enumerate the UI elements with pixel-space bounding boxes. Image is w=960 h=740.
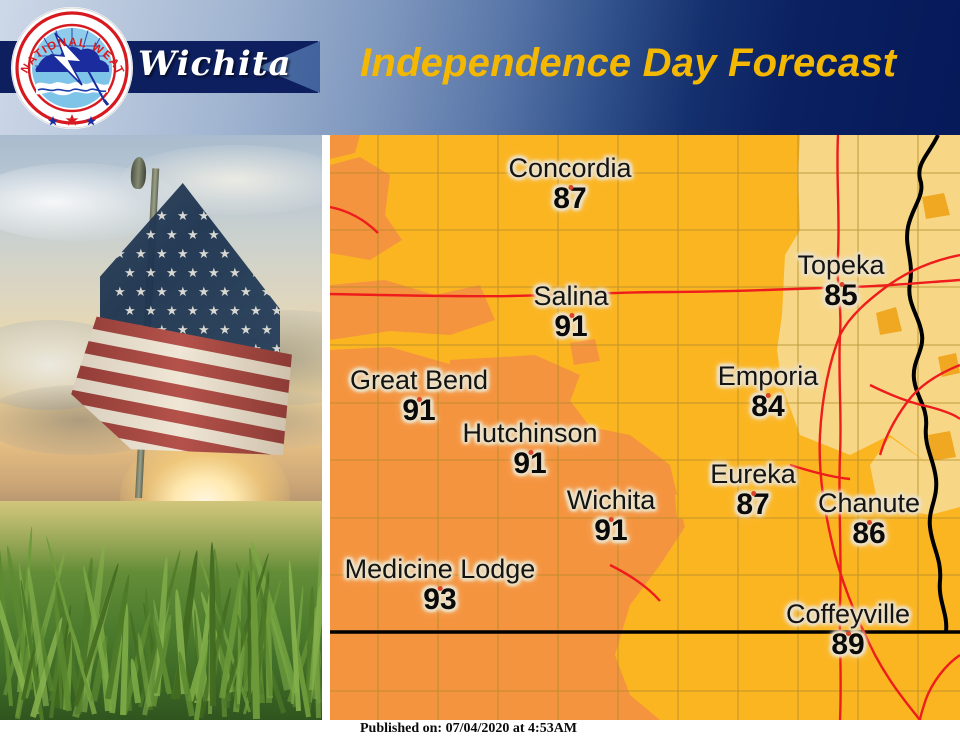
city-label: Chanute86 bbox=[818, 490, 920, 549]
flag-star: ★ bbox=[208, 304, 220, 317]
flag-star: ★ bbox=[261, 323, 273, 336]
city-name: Hutchinson bbox=[462, 420, 597, 448]
city-label: Emporia84 bbox=[718, 363, 819, 422]
city-marker-dot bbox=[839, 282, 844, 287]
flag-star: ★ bbox=[135, 247, 147, 260]
flag-star: ★ bbox=[187, 228, 199, 241]
city-name: Coffeyville bbox=[786, 601, 910, 629]
page-header: NATIONAL WEATHER SERVICE Wichita Indepen… bbox=[0, 0, 960, 135]
flag-star: ★ bbox=[240, 323, 252, 336]
flag-star: ★ bbox=[219, 247, 231, 260]
city-name: Great Bend bbox=[350, 367, 488, 395]
city-label: Medicine Lodge93 bbox=[345, 556, 536, 615]
city-marker-dot bbox=[568, 185, 573, 190]
grass-blade bbox=[266, 592, 272, 703]
flag-star: ★ bbox=[124, 304, 136, 317]
city-name: Topeka bbox=[797, 252, 884, 280]
city-name: Eureka bbox=[710, 461, 796, 489]
flag-star: ★ bbox=[198, 247, 210, 260]
city-name: Salina bbox=[533, 283, 608, 311]
city-marker-dot bbox=[751, 491, 756, 496]
flag-star: ★ bbox=[219, 285, 231, 298]
city-label: Topeka85 bbox=[797, 252, 884, 311]
flag-star: ★ bbox=[156, 247, 168, 260]
flag-star: ★ bbox=[187, 266, 199, 279]
city-label: Hutchinson91 bbox=[462, 420, 597, 479]
flag-star: ★ bbox=[229, 266, 241, 279]
flag-star: ★ bbox=[135, 285, 147, 298]
city-label: Wichita91 bbox=[567, 487, 656, 546]
flag-star: ★ bbox=[208, 228, 220, 241]
office-name: Wichita bbox=[138, 44, 292, 84]
city-name: Chanute bbox=[818, 490, 920, 518]
flag-star: ★ bbox=[229, 304, 241, 317]
published-timestamp: Published on: 07/04/2020 at 4:53AM bbox=[360, 721, 577, 737]
flag-star: ★ bbox=[156, 285, 168, 298]
flag-star: ★ bbox=[145, 228, 157, 241]
city-marker-dot bbox=[528, 450, 533, 455]
city-name: Wichita bbox=[567, 487, 656, 515]
flag-star: ★ bbox=[166, 266, 178, 279]
city-label: Concordia87 bbox=[508, 155, 631, 214]
city-marker-dot bbox=[846, 631, 851, 636]
city-name: Medicine Lodge bbox=[345, 556, 536, 584]
flag-star: ★ bbox=[208, 266, 220, 279]
nws-logo-icon: NATIONAL WEATHER SERVICE bbox=[8, 4, 136, 132]
flag-star: ★ bbox=[166, 304, 178, 317]
holiday-photo: ★★★★★★★★★★★★★★★★★★★★★★★★★★★★★★★★★★★★★★★★… bbox=[0, 135, 322, 720]
flag-star: ★ bbox=[177, 209, 189, 222]
flag-star: ★ bbox=[177, 247, 189, 260]
city-label: Coffeyville89 bbox=[786, 601, 910, 660]
flag-star: ★ bbox=[145, 304, 157, 317]
city-label: Eureka87 bbox=[710, 461, 796, 520]
flag-star: ★ bbox=[250, 304, 262, 317]
flag-star: ★ bbox=[187, 304, 199, 317]
city-name: Emporia bbox=[718, 363, 819, 391]
city-marker-dot bbox=[569, 313, 574, 318]
flag-star: ★ bbox=[124, 266, 136, 279]
page-title: Independence Day Forecast bbox=[360, 41, 896, 86]
flag-star: ★ bbox=[240, 285, 252, 298]
temperature-map: 25% Concordia87Topeka85Salina91Great Ben… bbox=[330, 135, 960, 720]
flag-star: ★ bbox=[114, 285, 126, 298]
flag-star: ★ bbox=[198, 285, 210, 298]
flag-star: ★ bbox=[219, 323, 231, 336]
field-haze bbox=[0, 501, 322, 571]
flag-star: ★ bbox=[166, 228, 178, 241]
flag-star: ★ bbox=[177, 285, 189, 298]
city-label: Salina91 bbox=[533, 283, 608, 342]
city-name: Concordia bbox=[508, 155, 631, 183]
flag-star: ★ bbox=[145, 266, 157, 279]
